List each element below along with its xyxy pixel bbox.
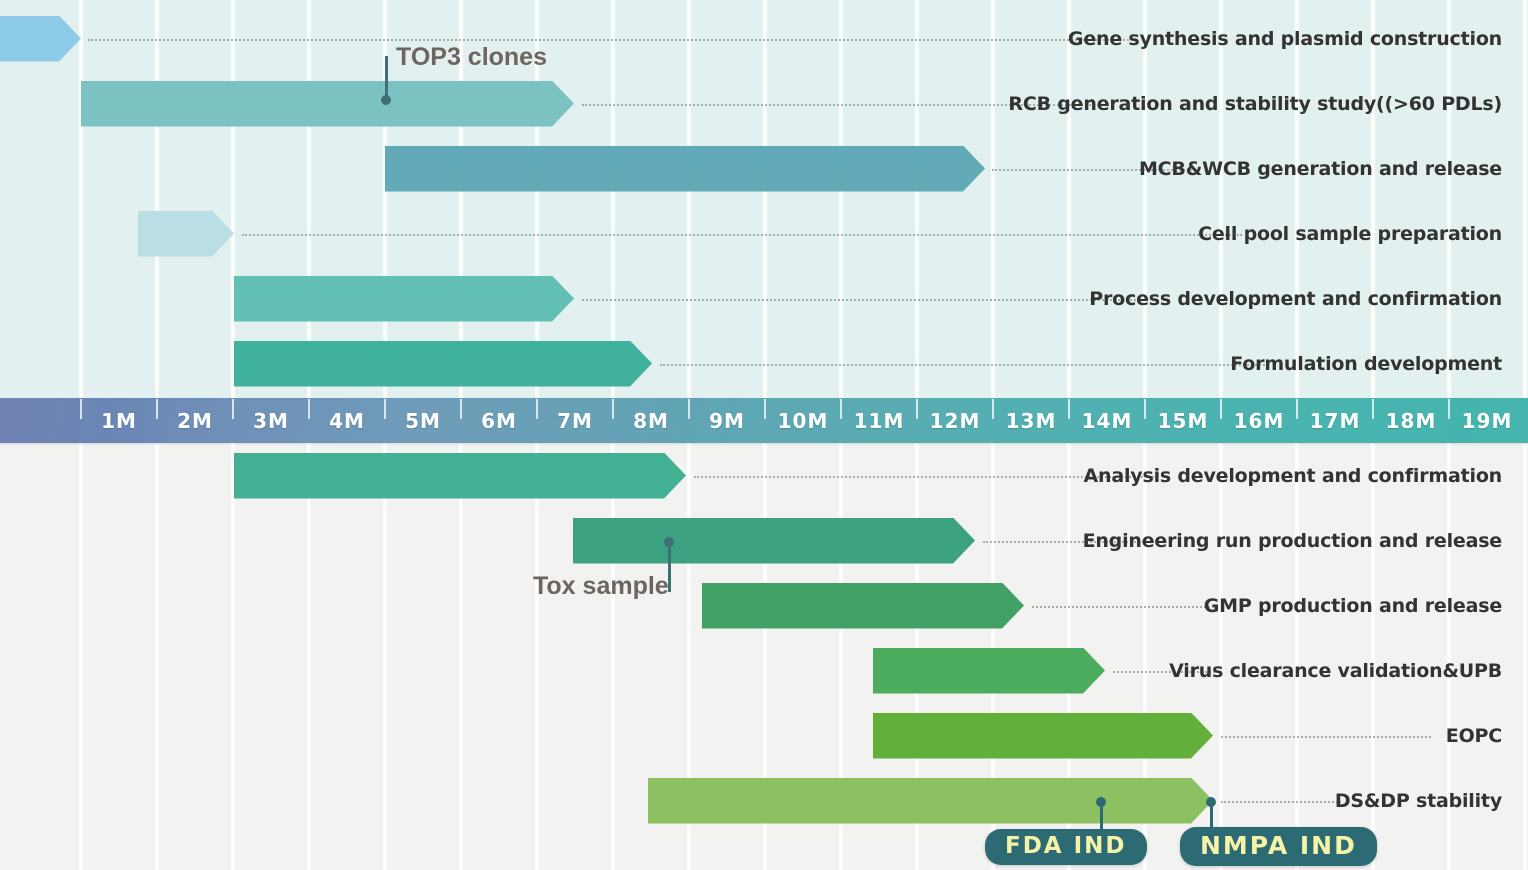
task-label: GMP production and release bbox=[1204, 595, 1502, 617]
timeline-tick-13m[interactable]: 13M bbox=[993, 409, 1069, 433]
timeline-axis[interactable]: 1M2M3M4M5M6M7M8M9M10M11M12M13M14M15M16M1… bbox=[0, 398, 1528, 443]
task-bar-ds-dp-stability[interactable] bbox=[648, 778, 1213, 824]
timeline-tick-8m[interactable]: 8M bbox=[613, 409, 689, 433]
task-row-engineering-run[interactable]: Engineering run production and release bbox=[0, 508, 1528, 573]
task-label: Analysis development and confirmation bbox=[1084, 465, 1502, 487]
timeline-tick-11m[interactable]: 11M bbox=[841, 409, 917, 433]
leader-line bbox=[88, 39, 1136, 41]
leader-line bbox=[582, 299, 1144, 301]
task-row-cell-pool[interactable]: Cell pool sample preparation bbox=[0, 201, 1528, 266]
annotation-stem bbox=[385, 56, 388, 100]
timeline-tick-3m[interactable]: 3M bbox=[233, 409, 309, 433]
task-row-formulation-development[interactable]: Formulation development bbox=[0, 331, 1528, 396]
task-row-virus-clearance[interactable]: Virus clearance validation&UPB bbox=[0, 638, 1528, 703]
task-row-process-development[interactable]: Process development and confirmation bbox=[0, 266, 1528, 331]
task-label: DS&DP stability bbox=[1335, 790, 1502, 812]
task-bar-mcb-wcb[interactable] bbox=[385, 146, 985, 192]
timeline-tick-5m[interactable]: 5M bbox=[385, 409, 461, 433]
leader-line bbox=[1032, 606, 1214, 608]
task-label: Virus clearance validation&UPB bbox=[1169, 660, 1502, 682]
timeline-tick-6m[interactable]: 6M bbox=[461, 409, 537, 433]
task-label: Gene synthesis and plasmid construction bbox=[1068, 28, 1502, 50]
leader-line bbox=[660, 364, 1268, 366]
leader-line bbox=[1221, 801, 1341, 803]
leader-line bbox=[1221, 736, 1431, 738]
task-label: Cell pool sample preparation bbox=[1198, 223, 1502, 245]
task-row-gmp-production[interactable]: GMP production and release bbox=[0, 573, 1528, 638]
task-row-ds-dp-stability[interactable]: DS&DP stability bbox=[0, 768, 1528, 833]
annotation-label: TOP3 clones bbox=[396, 43, 547, 72]
task-bar-gene-synthesis[interactable] bbox=[0, 16, 81, 62]
annotation-dot bbox=[664, 537, 674, 547]
task-label: Formulation development bbox=[1230, 353, 1502, 375]
timeline-tick-18m[interactable]: 18M bbox=[1373, 409, 1449, 433]
annotation-label: Tox sample bbox=[533, 572, 669, 601]
task-label: MCB&WCB generation and release bbox=[1139, 158, 1502, 180]
milestone-badge-label[interactable]: NMPA IND bbox=[1180, 827, 1377, 866]
task-bar-analysis-development[interactable] bbox=[234, 453, 686, 499]
timeline-tick-9m[interactable]: 9M bbox=[689, 409, 765, 433]
task-bar-engineering-run[interactable] bbox=[573, 518, 975, 564]
timeline-tick-4m[interactable]: 4M bbox=[309, 409, 385, 433]
gantt-chart: Gene synthesis and plasmid construction … bbox=[0, 0, 1528, 870]
task-bar-process-development[interactable] bbox=[234, 276, 574, 322]
task-bar-rcb-generation[interactable] bbox=[81, 81, 574, 127]
timeline-tick-10m[interactable]: 10M bbox=[765, 409, 841, 433]
task-bar-cell-pool[interactable] bbox=[138, 211, 234, 257]
timeline-tick-17m[interactable]: 17M bbox=[1297, 409, 1373, 433]
milestone-badge-label[interactable]: FDA IND bbox=[985, 829, 1147, 865]
timeline-tick-19m[interactable]: 19M bbox=[1449, 409, 1525, 433]
timeline-tick-1m[interactable]: 1M bbox=[81, 409, 157, 433]
leader-line bbox=[242, 234, 1242, 236]
task-label: Process development and confirmation bbox=[1089, 288, 1502, 310]
task-bar-gmp-production[interactable] bbox=[702, 583, 1024, 629]
annotation-dot bbox=[381, 95, 391, 105]
task-row-eopc[interactable]: EOPC bbox=[0, 703, 1528, 768]
task-bar-eopc[interactable] bbox=[873, 713, 1213, 759]
timeline-tick-2m[interactable]: 2M bbox=[157, 409, 233, 433]
timeline-tick-15m[interactable]: 15M bbox=[1145, 409, 1221, 433]
timeline-tick-16m[interactable]: 16M bbox=[1221, 409, 1297, 433]
task-bar-virus-clearance[interactable] bbox=[873, 648, 1105, 694]
task-row-analysis-development[interactable]: Analysis development and confirmation bbox=[0, 443, 1528, 508]
task-label: RCB generation and stability study((>60 … bbox=[1008, 93, 1502, 115]
task-row-rcb-generation[interactable]: RCB generation and stability study((>60 … bbox=[0, 71, 1528, 136]
milestone-stem bbox=[1100, 802, 1103, 832]
task-row-mcb-wcb[interactable]: MCB&WCB generation and release bbox=[0, 136, 1528, 201]
timeline-tick-7m[interactable]: 7M bbox=[537, 409, 613, 433]
task-bar-formulation-development[interactable] bbox=[234, 341, 652, 387]
task-row-gene-synthesis[interactable]: Gene synthesis and plasmid construction bbox=[0, 6, 1528, 71]
task-label: EOPC bbox=[1446, 725, 1502, 747]
timeline-tick-12m[interactable]: 12M bbox=[917, 409, 993, 433]
task-label: Engineering run production and release bbox=[1083, 530, 1502, 552]
timeline-tick-14m[interactable]: 14M bbox=[1069, 409, 1145, 433]
